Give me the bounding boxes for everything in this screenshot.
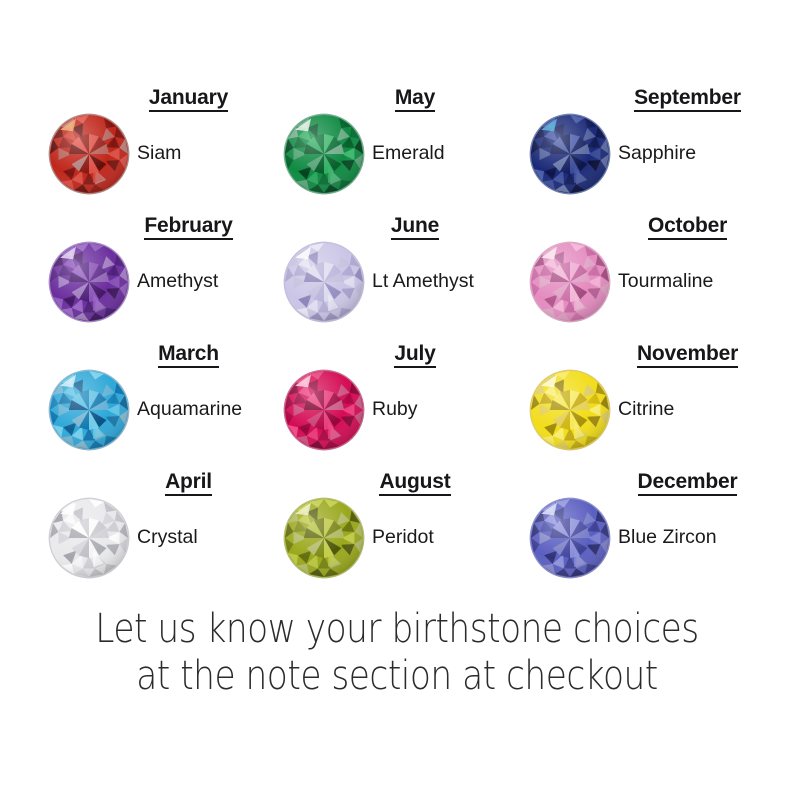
gem-icon — [528, 112, 612, 196]
stone-row-december: Blue Zircon — [513, 492, 794, 584]
stone-name-october: Tourmaline — [618, 272, 713, 292]
stone-name-january: Siam — [137, 144, 181, 164]
birthstone-cell-november[interactable]: November Citrine — [513, 334, 794, 462]
stone-name-april: Crystal — [137, 528, 198, 548]
gem-icon — [282, 240, 366, 324]
stone-row-november: Citrine — [513, 364, 794, 456]
gem-icon — [47, 496, 131, 580]
gem-icon — [47, 112, 131, 196]
birthstone-cell-may[interactable]: May Emerald — [265, 78, 513, 206]
gem-icon — [282, 112, 366, 196]
stone-name-august: Peridot — [372, 528, 434, 548]
gem-icon — [47, 240, 131, 324]
month-label-november: November — [513, 342, 794, 366]
stone-row-october: Tourmaline — [513, 236, 794, 328]
birthstone-cell-october[interactable]: October Tourmaline — [513, 206, 794, 334]
stone-row-june: Lt Amethyst — [265, 236, 530, 328]
stone-name-december: Blue Zircon — [618, 528, 717, 548]
caption-line-1: Let us know your birthstone choices — [56, 606, 739, 653]
checkout-instruction: Let us know your birthstone choices at t… — [56, 606, 739, 700]
stone-name-july: Ruby — [372, 400, 418, 420]
birthstone-chart: January Siam May Emerald September Sapph… — [0, 0, 794, 794]
birthstone-cell-december[interactable]: December Blue Zircon — [513, 462, 794, 592]
gem-icon — [282, 368, 366, 452]
month-label-may: May — [265, 86, 539, 110]
month-label-december: December — [513, 470, 794, 494]
month-label-september: September — [513, 86, 794, 110]
month-label-july: July — [265, 342, 539, 366]
birthstone-cell-april[interactable]: April Crystal — [0, 462, 265, 592]
month-label-august: August — [265, 470, 539, 494]
stone-row-may: Emerald — [265, 108, 530, 200]
stone-name-february: Amethyst — [137, 272, 218, 292]
stone-name-june: Lt Amethyst — [372, 272, 474, 292]
gem-icon — [47, 368, 131, 452]
stone-row-august: Peridot — [265, 492, 530, 584]
month-label-october: October — [513, 214, 794, 238]
stone-name-november: Citrine — [618, 400, 674, 420]
birthstone-grid: January Siam May Emerald September Sapph… — [0, 78, 794, 592]
month-label-june: June — [265, 214, 539, 238]
stone-name-may: Emerald — [372, 144, 445, 164]
stone-name-march: Aquamarine — [137, 400, 242, 420]
birthstone-cell-august[interactable]: August Peridot — [265, 462, 513, 592]
stone-row-july: Ruby — [265, 364, 530, 456]
birthstone-cell-july[interactable]: July Ruby — [265, 334, 513, 462]
birthstone-cell-june[interactable]: June Lt Amethyst — [265, 206, 513, 334]
birthstone-cell-september[interactable]: September Sapphire — [513, 78, 794, 206]
stone-row-september: Sapphire — [513, 108, 794, 200]
stone-name-september: Sapphire — [618, 144, 696, 164]
birthstone-cell-march[interactable]: March Aquamarine — [0, 334, 265, 462]
birthstone-cell-january[interactable]: January Siam — [0, 78, 265, 206]
birthstone-cell-february[interactable]: February Amethyst — [0, 206, 265, 334]
gem-icon — [282, 496, 366, 580]
gem-icon — [528, 496, 612, 580]
gem-icon — [528, 240, 612, 324]
gem-icon — [528, 368, 612, 452]
caption-line-2: at the note section at checkout — [56, 653, 739, 700]
